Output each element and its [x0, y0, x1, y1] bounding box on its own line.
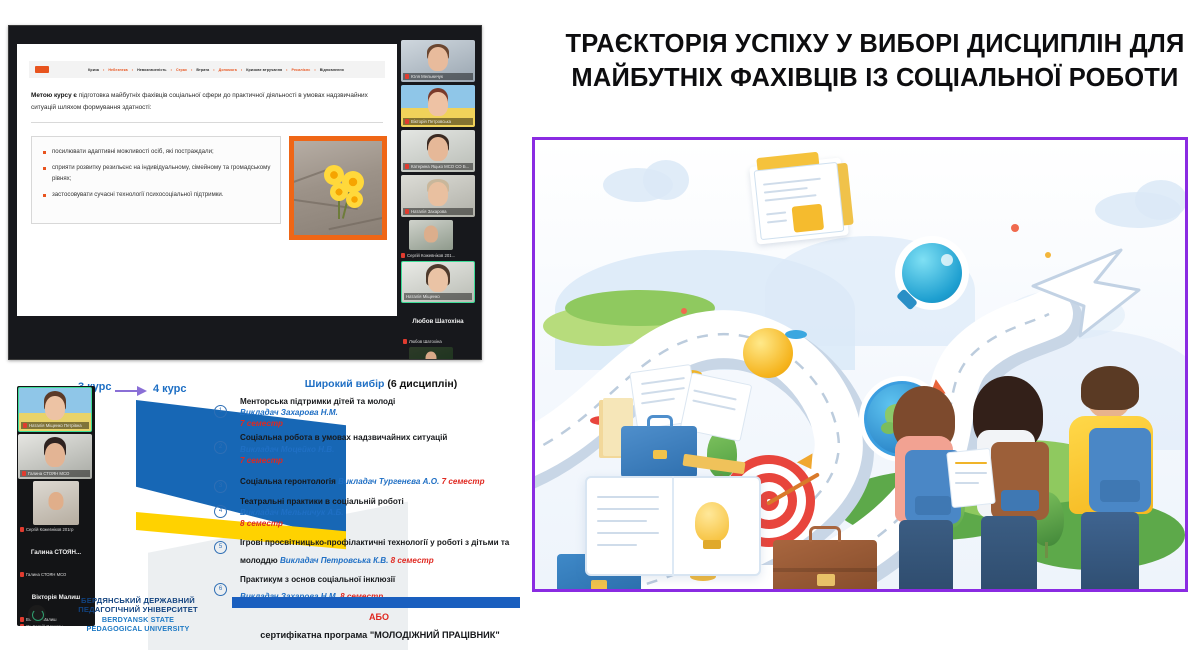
mic-muted-icon — [20, 572, 24, 577]
blue-divider-bar — [232, 597, 520, 608]
participant-name: Галина СТОЯН МСО — [28, 471, 69, 476]
disciplines-heading-blue: Широкий вибір — [305, 378, 385, 390]
slide-photo-flowers — [289, 136, 387, 240]
disciplines-list: Широкий вибір (6 дисциплін) 1 Менторська… — [214, 378, 534, 607]
participant-name-row: Любов Шатохіна — [401, 339, 475, 344]
participant-name: Вікторія Петровська — [411, 119, 451, 124]
nav-item-5: Допомога — [219, 68, 237, 72]
nav-item-2: Невизначеність — [137, 68, 167, 72]
discipline-teacher: Викладач Петровська К.В. — [280, 556, 391, 565]
nav-item-3: Страх — [176, 68, 187, 72]
nav-item-0: Криза — [88, 68, 99, 72]
briefcase-icon — [773, 540, 877, 592]
university-name-ua-2: ПЕДАГОГІЧНИЙ УНІВЕРСИТЕТ — [52, 605, 224, 614]
participant-name: Галина СТОЯН МСО — [26, 572, 66, 577]
decor-dot — [1045, 252, 1051, 258]
participant-display-name: Любов Шатохіна — [401, 306, 475, 336]
participant-tile[interactable]: Катерина Яцько МСО СО Б... — [401, 130, 475, 172]
discipline-teacher: Викладач Моцейко Н.В. — [240, 444, 534, 455]
mic-muted-icon — [20, 617, 24, 622]
participant-tile[interactable]: Юля Мельничук — [401, 40, 475, 82]
slide-bullet-box: посилювати адаптивні можливості осіб, як… — [31, 136, 281, 224]
nav-item-4: Втрата — [196, 68, 209, 72]
university-logo-block: БЕРДЯНСЬКИЙ ДЕРЖАВНИЙ ПЕДАГОГІЧНИЙ УНІВЕ… — [28, 596, 224, 633]
clipboard-icon — [946, 448, 996, 508]
page-title: ТРАЄКТОРІЯ УСПІХУ У ВИБОРІ ДИСЦИПЛІН ДЛЯ… — [560, 28, 1190, 95]
discipline-title: Менторська підтримки дітей та молоді — [240, 396, 534, 407]
participant-name: Сергій Кожевніков 201гр — [26, 527, 73, 532]
mic-muted-icon — [23, 423, 27, 428]
discipline-semester: 8 семестр — [391, 556, 434, 565]
slide-divider — [31, 122, 383, 123]
participant-name: Юля Мельничук — [411, 74, 443, 79]
disciplines-heading: Широкий вибір (6 дисциплін) — [228, 378, 534, 390]
discipline-number: 1 — [214, 405, 227, 418]
participant-name: Любов Шатохіна — [409, 339, 442, 344]
slide-lead-bold: Метою курсу є — [31, 92, 77, 99]
discipline-title: Театральні практики в соціальній роботі — [240, 496, 534, 507]
participant-name: Наталія Захарова — [411, 209, 447, 214]
slide-lead-rest: підготовка майбутніх фахівців соціальної… — [31, 92, 368, 111]
disciplines-heading-rest: (6 дисциплін) — [384, 378, 457, 390]
discipline-item: 4 Театральні практики в соціальній робот… — [214, 496, 534, 529]
zoom-meeting-window-bottom: Наталія Міщенко Петрівна Галина СТОЯН МС… — [17, 386, 95, 626]
title-line-1: ТРАЄКТОРІЯ УСПІХУ У ВИБОРІ ДИСЦИПЛІН ДЛЯ — [560, 28, 1190, 62]
decor-dot — [681, 308, 687, 314]
slide-bullet: застосовувати сучасні технології психосо… — [41, 190, 271, 200]
slide-bullet: посилювати адаптивні можливості осіб, як… — [41, 147, 271, 157]
nav-item-8: Відновлення — [320, 68, 344, 72]
university-name-en-2: PEDAGOGICAL UNIVERSITY — [52, 624, 224, 633]
course-to-label: 4 курс — [153, 383, 187, 395]
discipline-number: 5 — [214, 541, 227, 554]
nav-item-6: Кризове втручання — [246, 68, 282, 72]
discipline-teacher: Викладач Захарова Н.М. — [240, 407, 534, 418]
zoom-meeting-window-top: Криза• Небезпека• Невизначеність• Страх•… — [8, 25, 482, 360]
discipline-semester: 8 семестр — [240, 518, 534, 529]
discipline-item: 1 Менторська підтримки дітей та молоді В… — [214, 396, 534, 429]
participant-name: Наталія Міщенко Петрівна — [29, 423, 82, 428]
certificate-program-label: сертифікатна програма "МОЛОДІЖНИЙ ПРАЦІВ… — [200, 630, 560, 640]
discipline-item: 5 Ігрові просвітницько-профілактичні тех… — [214, 532, 534, 568]
slide-nav-items: Криза• Небезпека• Невизначеність• Страх•… — [88, 68, 344, 72]
illustration-panel — [532, 137, 1188, 592]
participant-name-row: Сергій Кожевніков 201гр — [18, 527, 94, 532]
university-emblem-icon — [28, 605, 46, 623]
discipline-number: 4 — [214, 505, 227, 518]
discipline-semester: 7 семестр — [240, 418, 534, 429]
shared-presentation-slide: Криза• Небезпека• Невизначеність• Страх•… — [17, 44, 397, 316]
participant-rail-top: Юля Мельничук Вікторія Петровська Катери… — [401, 40, 475, 351]
mic-muted-icon — [405, 119, 409, 124]
nav-item-7: Ресилієнс — [292, 68, 311, 72]
or-label: АБО — [214, 612, 544, 622]
discipline-number: 3 — [214, 480, 227, 493]
mic-muted-icon — [403, 339, 407, 344]
mic-muted-icon — [405, 164, 409, 169]
discipline-semester: 7 семестр — [240, 455, 534, 466]
decor-dot — [1011, 224, 1019, 232]
mic-muted-icon — [20, 527, 24, 532]
participant-tile[interactable] — [33, 481, 79, 525]
discipline-title: Соціальна геронтологія — [240, 477, 338, 486]
discipline-item: 2 Соціальна робота в умовах надзвичайних… — [214, 432, 534, 465]
discipline-title: Соціальна робота в умовах надзвичайних с… — [240, 432, 534, 443]
lightbulb-icon — [695, 502, 729, 542]
participant-tile[interactable] — [409, 347, 453, 360]
slide-bullet: сприяти розвитку резильєнс на індивідуал… — [41, 163, 271, 184]
participant-name-row: Галина СТОЯН МСО — [18, 572, 94, 577]
discipline-teacher: Викладач Тургенєва А.О. — [338, 477, 441, 486]
participant-tile[interactable]: Вікторія Петровська — [401, 85, 475, 127]
mic-muted-icon — [20, 624, 24, 626]
university-name-ua-1: БЕРДЯНСЬКИЙ ДЕРЖАВНИЙ — [52, 596, 224, 605]
student-figure — [1051, 372, 1177, 592]
open-book-lightbulb-icon — [585, 460, 761, 580]
discipline-item: 3 Соціальна геронтологія Викладач Турген… — [214, 471, 534, 489]
discipline-teacher: Викладач Мельничук А.Б. — [240, 507, 534, 518]
title-line-2: МАЙБУТНІХ ФАХІВЦІВ ІЗ СОЦІАЛЬНОЇ РОБОТИ — [560, 62, 1190, 96]
participant-name: Наталія Міщенко — [406, 294, 440, 299]
participant-tile[interactable] — [409, 220, 453, 250]
participant-display-name: Галина СТОЯН... — [18, 534, 94, 570]
yellow-sphere — [743, 328, 793, 378]
mic-muted-icon — [22, 471, 26, 476]
participant-tile[interactable]: Наталія Захарова — [401, 175, 475, 217]
discipline-number: 6 — [214, 583, 227, 596]
arrow-right-icon — [115, 388, 149, 394]
discipline-semester: 7 семестр — [442, 477, 485, 486]
discipline-number: 2 — [214, 441, 227, 454]
mic-muted-icon — [401, 253, 405, 258]
nav-item-1: Небезпека — [108, 68, 127, 72]
mic-muted-icon — [405, 74, 409, 79]
participant-tile[interactable]: Галина СТОЯН МСО — [18, 434, 92, 479]
discipline-title: Практикум з основ соціальної інклюзії — [240, 574, 534, 585]
slide-navbar: Криза• Небезпека• Невизначеність• Страх•… — [29, 61, 385, 78]
slide-logo-icon — [35, 66, 49, 73]
university-name-en-1: BERDYANSK STATE — [52, 615, 224, 624]
participant-name-row: Сергій Кожевніков 201... — [401, 253, 475, 258]
participant-tile-active[interactable]: Наталія Міщенко — [401, 261, 475, 303]
slide-lead-paragraph: Метою курсу є підготовка майбутніх фахів… — [31, 90, 383, 114]
participant-name: Катерина Яцько МСО СО Б... — [411, 164, 469, 169]
participant-name: Сергій Кожевніков 201... — [407, 253, 455, 258]
participant-tile-active[interactable]: Наталія Міщенко Петрівна — [18, 387, 92, 432]
mic-muted-icon — [405, 209, 409, 214]
document-card-icon — [749, 157, 849, 244]
presentation-screenshot: ТРАЄКТОРІЯ УСПІХУ У ВИБОРІ ДИСЦИПЛІН ДЛЯ… — [0, 0, 1200, 650]
